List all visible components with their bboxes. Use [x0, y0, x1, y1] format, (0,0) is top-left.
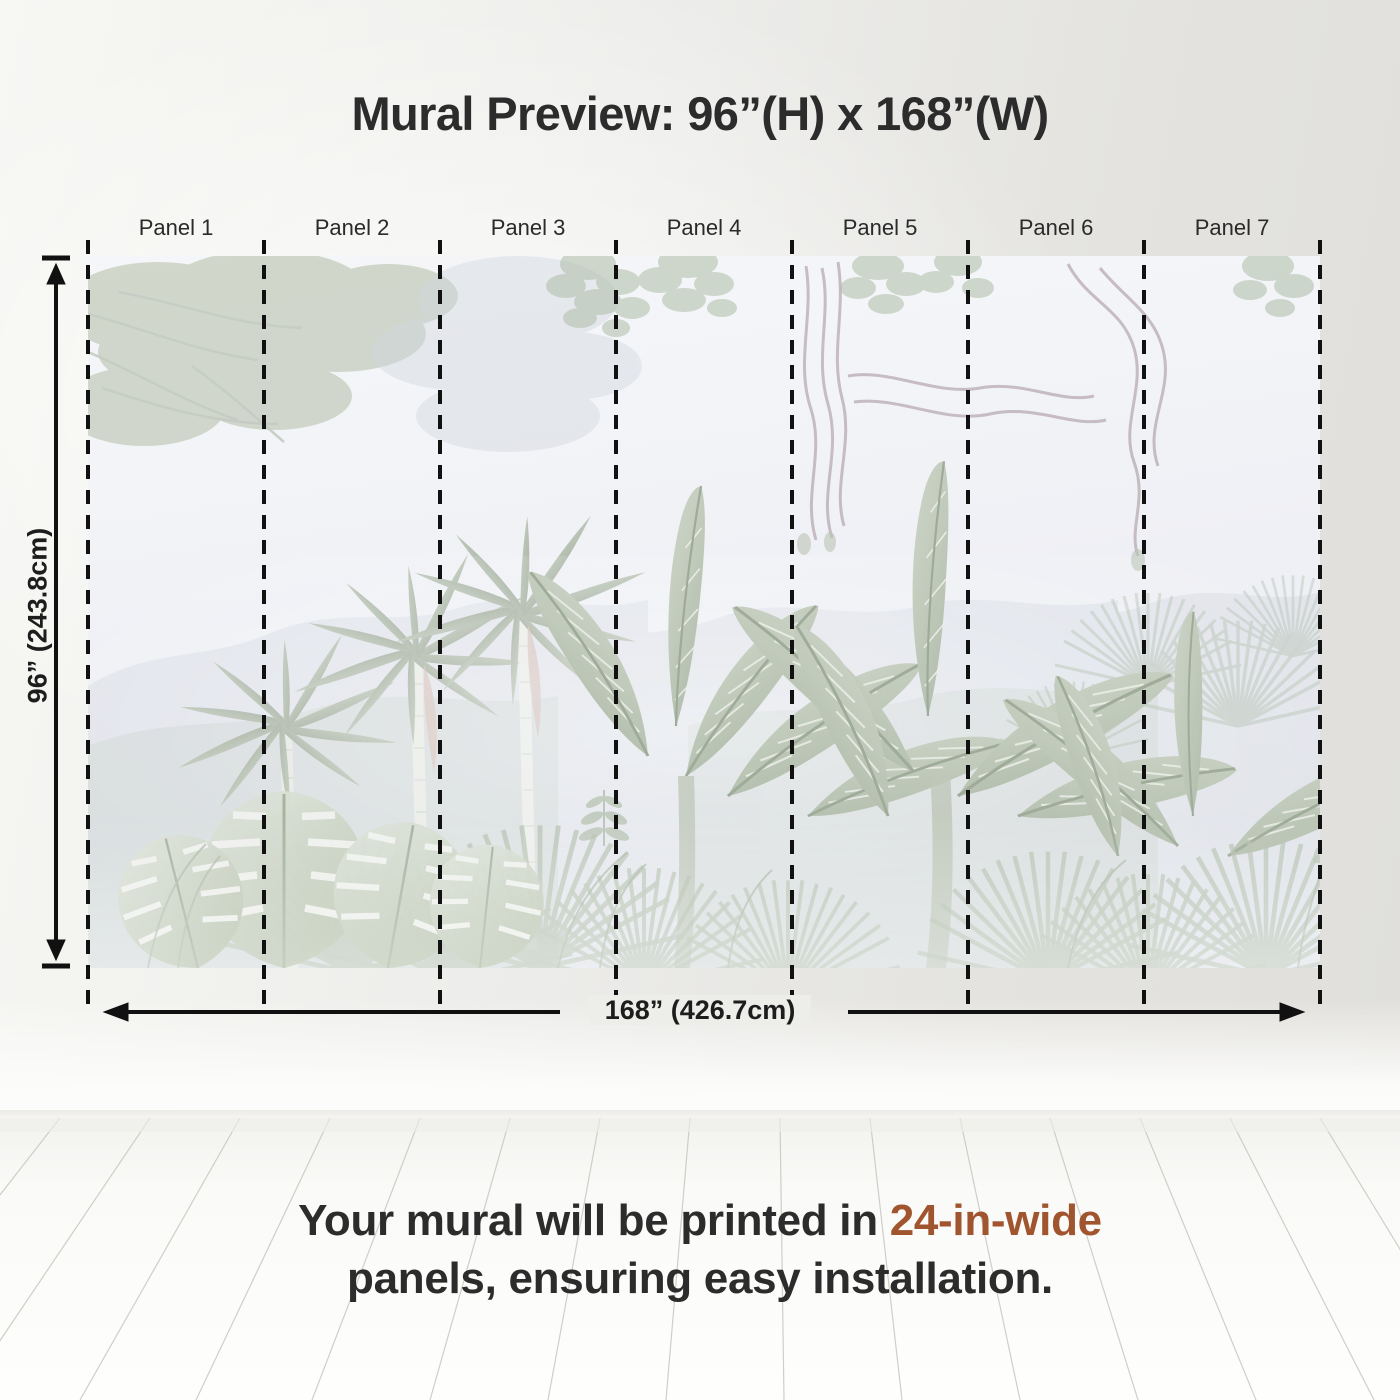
panel-label-1: Panel 1 [88, 213, 264, 245]
width-dimension-label: 168” (426.7cm) [0, 995, 1400, 1026]
page-title: Mural Preview: 96”(H) x 168”(W) [0, 86, 1400, 141]
panel-label-3: Panel 3 [440, 213, 616, 245]
height-dimension-label: 96” (243.8cm) [23, 466, 54, 766]
panel-label-2: Panel 2 [264, 213, 440, 245]
panel-label-6: Panel 6 [968, 213, 1144, 245]
caption-accent: 24-in-wide [890, 1196, 1102, 1245]
mural-preview-screenshot: Mural Preview: 96”(H) x 168”(W) Panel 1 … [0, 0, 1400, 1400]
caption-line-1: Your mural will be printed in 24-in-wide [0, 1192, 1400, 1250]
panel-label-4: Panel 4 [616, 213, 792, 245]
panel-label-5: Panel 5 [792, 213, 968, 245]
caption-prefix: Your mural will be printed in [298, 1196, 890, 1245]
panel-label-7: Panel 7 [1144, 213, 1320, 245]
panel-label-row: Panel 1 Panel 2 Panel 3 Panel 4 Panel 5 … [88, 213, 1320, 245]
mural-artwork [88, 256, 1320, 968]
mural-illustration [88, 256, 1320, 968]
caption: Your mural will be printed in 24-in-wide… [0, 1192, 1400, 1308]
width-dimension-text: 168” (426.7cm) [589, 995, 812, 1025]
caption-line-2: panels, ensuring easy installation. [0, 1250, 1400, 1308]
